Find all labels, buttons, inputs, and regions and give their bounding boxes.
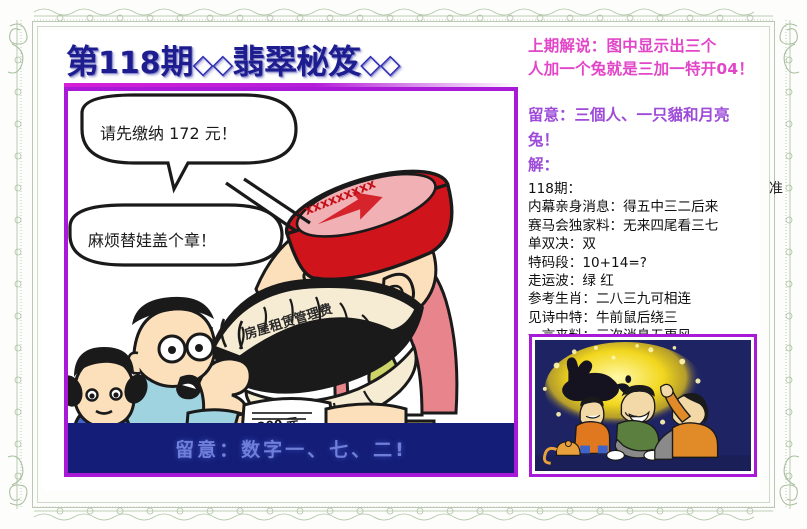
right-text-column: 上期解说：图中显示出三个 人加一个兔就是三加一特开04！ 留意：三個人、一只貓和… (528, 35, 756, 335)
moon-scene-artwork (535, 340, 751, 471)
diamond-right-icon: ◇◇ (360, 49, 400, 80)
solve-label: 解： (528, 153, 756, 178)
content-card: 第118期◇◇翡翠秘笈◇◇ (42, 31, 760, 491)
ornament-border-right (773, 0, 807, 529)
detail-line-7: 见诗中特：牛前鼠后绕三 (528, 309, 756, 327)
detail-line-5: 走运波：绿 红 (528, 272, 756, 290)
comic-artwork: xxxxxxxxx 房屋租赁管理费 (68, 91, 514, 473)
notice-line-2: 兔！ (528, 128, 756, 153)
diamond-left-icon: ◇◇ (193, 49, 233, 80)
moon-picture (535, 340, 751, 471)
prev-explain-line-1: 上期解说：图中显示出三个 (528, 35, 756, 58)
page-root: 准 第118期◇◇翡翠秘笈◇◇ (0, 0, 807, 529)
notice-line-1: 留意：三個人、一只貓和月亮 (528, 103, 756, 128)
ornament-border-left (0, 0, 34, 529)
prev-explain-line-2: 人加一个兔就是三加一特开04！ (528, 58, 756, 81)
title-mid: 期 (161, 42, 193, 81)
detail-line-0: 118期： (528, 180, 756, 198)
comic-banner: 留意：数字一、七、二! (68, 423, 514, 473)
detail-line-4: 特码段：10+14=? (528, 254, 756, 272)
detail-line-1: 内幕亲身消息：得五中三二后来 (528, 198, 756, 216)
detail-line-3: 单双决：双 (528, 235, 756, 253)
detail-line-2: 赛马会独家料：无来四尾看三七 (528, 217, 756, 235)
speech-bubble-top-text: 请先缴纳 172 元！ (100, 124, 237, 143)
detail-line-6: 参考生肖：二八三九可相连 (528, 290, 756, 308)
comic-panel: xxxxxxxxx 房屋租赁管理费 (64, 87, 518, 477)
title-prefix: 第 (66, 42, 98, 81)
stray-character: 准 (769, 178, 783, 198)
speech-bubble-bottom-text: 麻烦替娃盖个章！ (88, 231, 216, 250)
title-main: 翡翠秘笈 (232, 42, 360, 81)
moon-picture-frame (529, 334, 757, 477)
issue-number: 118 (98, 46, 161, 81)
comic-banner-text: 留意：数字一、七、二! (175, 435, 407, 462)
page-title: 第118期◇◇翡翠秘笈◇◇ (66, 39, 518, 87)
